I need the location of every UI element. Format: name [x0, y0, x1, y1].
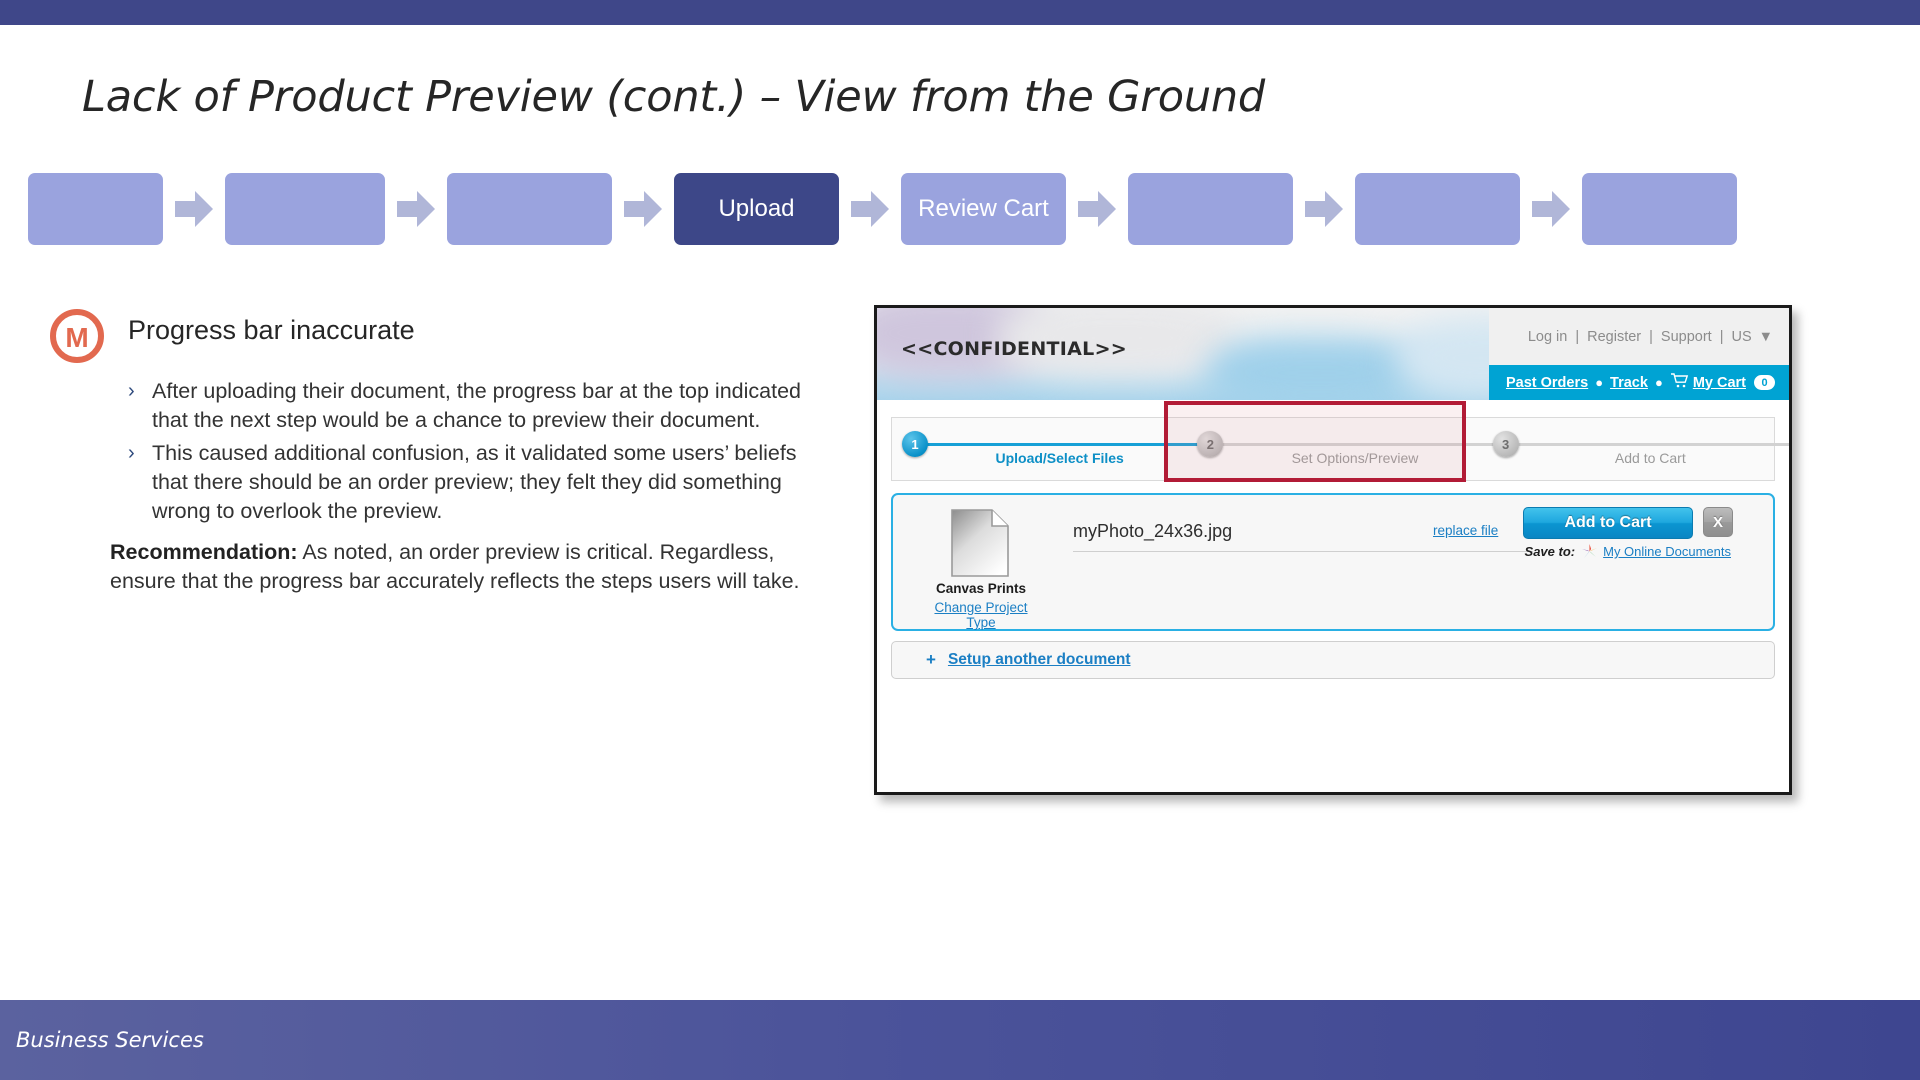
shopping-cart-icon — [1670, 373, 1689, 393]
bullet-dot-icon: ● — [1595, 375, 1603, 390]
process-arrow-icon — [1532, 188, 1570, 230]
finding-bullet: ›After uploading their document, the pro… — [128, 377, 838, 435]
page-title: Lack of Product Preview (cont.) – View f… — [82, 72, 1782, 122]
site-header: <<CONFIDENTIAL>> Log in | Register | Sup… — [877, 308, 1789, 400]
save-to-label: Save to: — [1525, 544, 1576, 559]
cart-nav-bar: Past Orders ● Track ● My Cart 0 — [1489, 365, 1789, 400]
finding-bullet-text: After uploading their document, the prog… — [152, 379, 801, 432]
step-number-1[interactable]: 1 — [902, 431, 928, 457]
svg-text:M: M — [65, 322, 88, 353]
process-step-7 — [1355, 173, 1520, 245]
past-orders-link[interactable]: Past Orders — [1506, 375, 1588, 391]
bullet-chevron-icon: › — [128, 377, 135, 406]
finding-bullet: ›This caused additional confusion, as it… — [128, 439, 838, 526]
step-number-3[interactable]: 3 — [1493, 431, 1519, 457]
step-connector-line — [1506, 443, 1792, 446]
finding-bullets: ›After uploading their document, the pro… — [48, 377, 838, 526]
step-connector-line — [915, 443, 1208, 446]
file-divider — [1073, 551, 1533, 552]
process-step-5: Review Cart — [901, 173, 1066, 245]
recommendation: Recommendation: As noted, an order previ… — [48, 538, 838, 596]
document-card: Canvas Prints Change Project Type myPhot… — [891, 493, 1775, 631]
process-arrow-icon — [624, 188, 662, 230]
nav-separator: | — [1720, 329, 1724, 345]
step-number-2[interactable]: 2 — [1197, 431, 1223, 457]
remove-document-button[interactable]: X — [1703, 507, 1733, 537]
process-step-8 — [1582, 173, 1737, 245]
recommendation-label: Recommendation: — [110, 540, 298, 564]
plus-icon: + — [926, 650, 936, 670]
register-link[interactable]: Register — [1587, 329, 1641, 345]
app-screenshot: <<CONFIDENTIAL>> Log in | Register | Sup… — [874, 305, 1792, 795]
setup-another-document-row[interactable]: + Setup another document — [891, 641, 1775, 679]
step-connector-line — [1210, 443, 1503, 446]
utility-nav: Log in | Register | Support | US ▼ — [1489, 308, 1789, 365]
process-step-4: Upload — [674, 173, 839, 245]
process-step-3 — [447, 173, 612, 245]
step-label-1[interactable]: Upload/Select Files — [942, 450, 1177, 466]
login-link[interactable]: Log in — [1528, 329, 1568, 345]
process-step-6 — [1128, 173, 1293, 245]
step-label-3[interactable]: Add to Cart — [1533, 450, 1768, 466]
progress-stepper: 1Upload/Select Files2Set Options/Preview… — [891, 417, 1775, 481]
replace-file-link[interactable]: replace file — [1433, 523, 1498, 538]
country-selector[interactable]: US — [1731, 329, 1751, 345]
document-thumbnail-icon — [951, 509, 1009, 577]
top-accent-bar — [0, 0, 1920, 25]
project-type-label: Canvas Prints — [921, 581, 1041, 596]
slide-canvas: Lack of Product Preview (cont.) – View f… — [0, 0, 1920, 1080]
moderator-m-icon: M — [48, 307, 106, 365]
save-to-row: Save to: My Online Documents — [1525, 544, 1731, 559]
process-arrow-icon — [1305, 188, 1343, 230]
cart-count-badge: 0 — [1754, 375, 1775, 390]
track-link[interactable]: Track — [1610, 375, 1648, 391]
bullet-chevron-icon: › — [128, 439, 135, 468]
process-step-2 — [225, 173, 385, 245]
bullet-dot-icon: ● — [1655, 375, 1663, 390]
chevron-down-icon[interactable]: ▼ — [1759, 329, 1773, 345]
nav-separator: | — [1649, 329, 1653, 345]
finding-header: M Progress bar inaccurate — [48, 305, 838, 365]
step-label-2[interactable]: Set Options/Preview — [1237, 450, 1472, 466]
process-step-label: Upload — [718, 195, 794, 223]
process-flow: UploadReview Cart — [28, 171, 1858, 247]
process-arrow-icon — [1078, 188, 1116, 230]
process-step-1 — [28, 173, 163, 245]
online-documents-star-icon — [1582, 544, 1597, 559]
file-name-label: myPhoto_24x36.jpg — [1073, 521, 1232, 542]
my-online-documents-link[interactable]: My Online Documents — [1603, 544, 1731, 559]
process-arrow-icon — [175, 188, 213, 230]
setup-another-document-link[interactable]: Setup another document — [948, 651, 1131, 669]
confidential-watermark: <<CONFIDENTIAL>> — [901, 338, 1127, 360]
change-project-type-link[interactable]: Change Project Type — [921, 600, 1041, 630]
support-link[interactable]: Support — [1661, 329, 1712, 345]
process-step-label: Review Cart — [918, 195, 1049, 223]
add-to-cart-button[interactable]: Add to Cart — [1523, 507, 1693, 539]
nav-separator: | — [1575, 329, 1579, 345]
finding-block: M Progress bar inaccurate ›After uploadi… — [48, 305, 838, 596]
slide-footer: Business Services — [0, 1000, 1920, 1080]
process-arrow-icon — [851, 188, 889, 230]
my-cart-link[interactable]: My Cart — [1693, 375, 1746, 391]
process-arrow-icon — [397, 188, 435, 230]
finding-bullet-text: This caused additional confusion, as it … — [152, 441, 797, 523]
finding-title: Progress bar inaccurate — [128, 315, 415, 346]
progress-steps: 1Upload/Select Files2Set Options/Preview… — [892, 418, 1774, 480]
footer-label: Business Services — [16, 1028, 204, 1052]
